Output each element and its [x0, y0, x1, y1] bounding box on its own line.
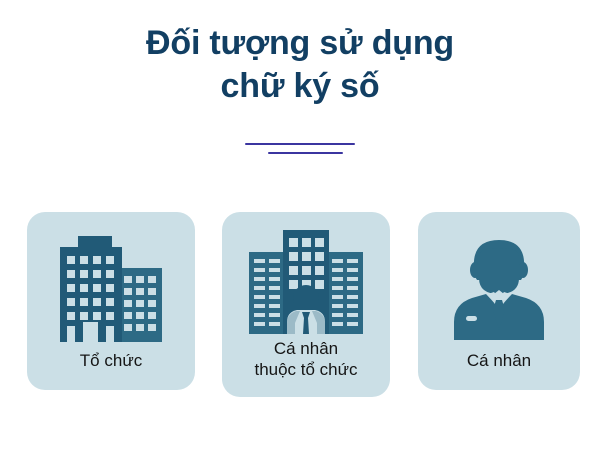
businessman-icon — [444, 212, 554, 340]
card-label-ca-nhan: Cá nhân — [467, 350, 531, 371]
title-line-1: Đối tượng sử dụng — [0, 22, 600, 65]
infographic-root: Đối tượng sử dụng chữ ký số — [0, 0, 600, 450]
card-ca-nhan[interactable]: Cá nhân — [418, 212, 580, 390]
card-label-line-1: Cá nhân — [254, 338, 357, 359]
divider-line-bottom — [268, 152, 343, 154]
divider-line-top — [245, 143, 355, 145]
person-in-organization-icon — [247, 212, 365, 334]
card-label-to-chuc: Tổ chức — [80, 350, 142, 371]
card-to-chuc[interactable]: Tổ chức — [27, 212, 195, 390]
card-label-line-2: thuộc tổ chức — [254, 359, 357, 380]
title-line-2: chữ ký số — [0, 65, 600, 108]
card-label-ca-nhan-thuoc-to-chuc: Cá nhân thuộc tổ chức — [254, 338, 357, 380]
buildings-icon — [52, 212, 170, 342]
card-row: Tổ chức — [0, 212, 600, 397]
page-title: Đối tượng sử dụng chữ ký số — [0, 22, 600, 108]
card-ca-nhan-thuoc-to-chuc[interactable]: Cá nhân thuộc tổ chức — [222, 212, 390, 397]
title-divider — [0, 143, 600, 163]
